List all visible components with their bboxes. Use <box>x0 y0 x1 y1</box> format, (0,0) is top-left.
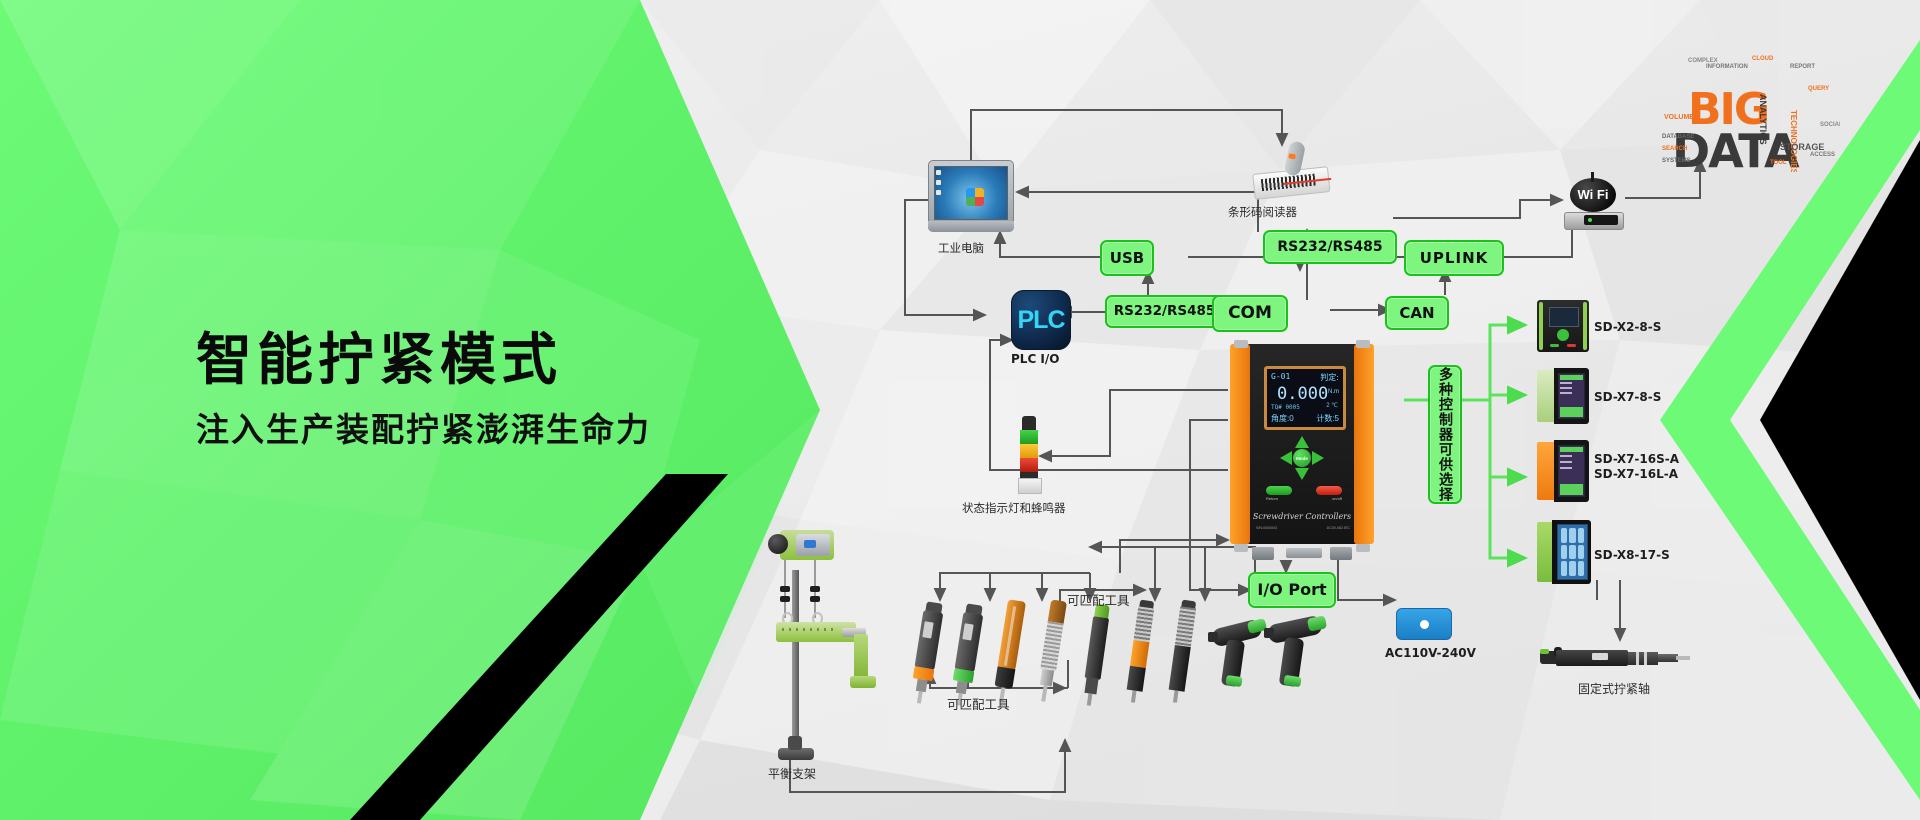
controller-model-sd-x2-8-s[interactable] <box>1537 300 1589 352</box>
port-multi-controller-note: 多种控制器可供选择 <box>1428 365 1462 504</box>
status-light-device[interactable] <box>1018 416 1040 492</box>
power-button[interactable] <box>1316 486 1342 495</box>
power-dot-icon <box>1420 620 1429 629</box>
balance-arm-label: 平衡支架 <box>768 765 816 782</box>
controller-model-sd-x7-8-s[interactable] <box>1537 368 1589 424</box>
port-com[interactable]: COM <box>1212 295 1288 332</box>
power-supply-label: AC110V-240V <box>1385 646 1476 660</box>
controller-model-label-3: SD-X8-17-S <box>1594 548 1670 562</box>
tool-item[interactable] <box>908 601 945 703</box>
controller-model-label-0: SD-X2-8-S <box>1594 320 1661 334</box>
mode-button[interactable]: Mode <box>1293 449 1311 467</box>
industrial-pc-label: 工业电脑 <box>938 240 984 256</box>
wifi-router-device[interactable]: Wi Fi <box>1562 172 1624 234</box>
lcd-judge-label: 判定: <box>1320 372 1339 383</box>
port-rs232-rs485-left[interactable]: RS232/RS485 <box>1105 295 1224 328</box>
big-data-wordcloud: BIG DATA ANALYTICS TECHNOLOGIES STORAGE … <box>1660 42 1840 172</box>
tool-item[interactable] <box>948 603 985 705</box>
balance-arm-device[interactable] <box>758 530 868 760</box>
port-can[interactable]: CAN <box>1385 296 1449 330</box>
controller-model-sd-x7-16-a[interactable] <box>1537 440 1589 502</box>
tool-item[interactable] <box>1268 614 1326 698</box>
plc-label: PLC I/O <box>1011 352 1059 366</box>
screwdriver-controller-device[interactable]: G-01 判定: 0.000 N.m TQ# 0005 2 ℃ 角度:0 计数:… <box>1228 340 1376 552</box>
lcd-unit: N.m <box>1328 389 1339 395</box>
tool-item[interactable] <box>990 599 1028 705</box>
tool-item[interactable] <box>1032 599 1070 705</box>
matched-tools-label-bottom: 可匹配工具 <box>947 694 1010 713</box>
fixed-spindle-label: 固定式拧紧轴 <box>1578 680 1650 697</box>
industrial-pc-device[interactable] <box>928 160 1014 232</box>
fixed-spindle-device[interactable] <box>1540 645 1690 671</box>
status-light-label: 状态指示灯和蜂鸣器 <box>962 500 1066 516</box>
port-usb[interactable]: USB <box>1100 240 1154 276</box>
tool-item[interactable] <box>1079 603 1113 705</box>
tool-item[interactable] <box>1212 618 1270 698</box>
barcode-reader-device[interactable] <box>1245 136 1337 205</box>
lcd-temp: 2 ℃ <box>1326 402 1338 409</box>
controller-model-code: DC00-082.IEC <box>1327 526 1350 530</box>
matched-tools-label-top: 可匹配工具 <box>1067 590 1130 609</box>
dpad-down-icon[interactable] <box>1295 468 1309 480</box>
power-supply-device[interactable] <box>1396 608 1452 640</box>
dpad-up-icon[interactable] <box>1295 436 1309 448</box>
tool-item[interactable] <box>1165 599 1199 705</box>
page-subtitle: 注入生产装配拧紧澎湃生命力 <box>196 403 651 451</box>
controller-model-label-1: SD-X7-8-S <box>1594 390 1661 404</box>
barcode-reader-label: 条形码阅读器 <box>1228 204 1297 220</box>
dpad-right-icon[interactable] <box>1312 451 1324 465</box>
controller-model-label-2: SD-X7-16S-A SD-X7-16L-A <box>1594 452 1679 482</box>
controller-lcd: G-01 判定: 0.000 N.m TQ# 0005 2 ℃ 角度:0 计数:… <box>1264 366 1346 430</box>
dpad-left-icon[interactable] <box>1280 451 1292 465</box>
lcd-count: 计数:5 <box>1316 413 1339 424</box>
page-title: 智能拧紧模式 <box>196 332 651 391</box>
banner-stage: 智能拧紧模式 注入生产装配拧紧澎湃生命力 <box>0 0 1920 820</box>
controller-serial: S/N:0000003 <box>1256 526 1277 530</box>
controller-dpad[interactable]: Mode <box>1280 436 1324 480</box>
lcd-angle: 角度:0 <box>1271 413 1294 424</box>
plc-device[interactable]: PLC <box>1011 290 1071 350</box>
controller-model-sd-x8-17-s[interactable] <box>1537 522 1591 582</box>
lcd-program: G-01 <box>1271 372 1290 381</box>
headline-block: 智能拧紧模式 注入生产装配拧紧澎湃生命力 <box>196 332 651 451</box>
port-rs232-rs485-top[interactable]: RS232/RS485 <box>1263 230 1397 264</box>
return-button-label: Return <box>1266 496 1278 501</box>
lcd-torque-id: TQ# 0005 <box>1271 404 1300 411</box>
controller-brand-text: Screwdriver Controllers <box>1228 512 1376 521</box>
tool-item[interactable] <box>1123 599 1157 705</box>
wifi-label: Wi Fi <box>1572 186 1614 202</box>
power-button-label: on/off <box>1332 496 1342 501</box>
plc-badge: PLC <box>1018 306 1065 335</box>
port-uplink[interactable]: UPLINK <box>1404 240 1504 276</box>
return-button[interactable] <box>1266 486 1292 495</box>
lcd-value: 0.000 <box>1277 384 1328 404</box>
